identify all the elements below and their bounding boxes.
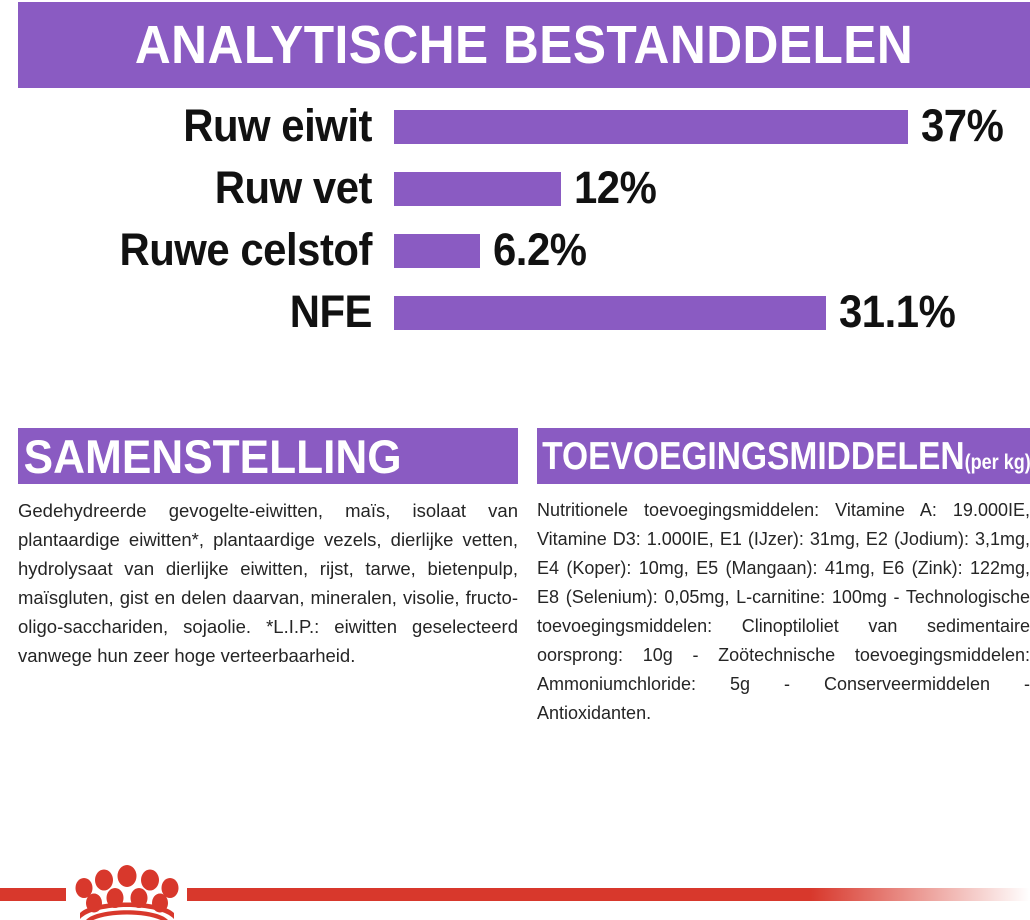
analytical-constituents-chart: Ruw eiwit37%Ruw vet12%Ruwe celstof6.2%NF… <box>0 96 1030 386</box>
composition-header-label: SAMENSTELLING <box>18 433 402 480</box>
additives-header-label: TOEVOEGINGSMIDDELEN(per kg) <box>537 437 1030 476</box>
chart-value-label: 12% <box>574 158 656 218</box>
additives-header-unit: (per kg) <box>965 451 1030 474</box>
chart-row: NFE31.1% <box>0 282 1030 342</box>
chart-value-label: 31.1% <box>839 282 955 342</box>
composition-header: SAMENSTELLING <box>18 428 518 484</box>
footer-rule-left <box>0 888 66 901</box>
chart-category-label: Ruwe celstof <box>26 220 372 280</box>
chart-bar <box>394 110 908 144</box>
chart-category-label: NFE <box>26 282 372 342</box>
additives-body: Nutritionele toevoegingsmiddelen: Vitami… <box>537 496 1030 728</box>
analysis-banner: ANALYTISCHE BESTANDDELEN <box>18 2 1030 88</box>
chart-value-label: 6.2% <box>493 220 587 280</box>
chart-category-label: Ruw vet <box>26 158 372 218</box>
chart-row: Ruw vet12% <box>0 158 1030 218</box>
additives-header-main: TOEVOEGINGSMIDDELEN <box>542 435 964 478</box>
page-title: ANALYTISCHE BESTANDDELEN <box>135 18 913 72</box>
chart-bar <box>394 172 561 206</box>
composition-body: Gedehydreerde gevogelte-eiwitten, maïs, … <box>18 496 518 670</box>
footer-brand <box>0 862 1030 920</box>
composition-panel: SAMENSTELLING Gedehydreerde gevogelte-ei… <box>18 428 518 670</box>
chart-category-label: Ruw eiwit <box>26 96 372 156</box>
footer-rule-right <box>187 888 1030 901</box>
royal-canin-crown-icon <box>66 862 188 920</box>
additives-panel: TOEVOEGINGSMIDDELEN(per kg) Nutritionele… <box>537 428 1030 728</box>
chart-row: Ruwe celstof6.2% <box>0 220 1030 280</box>
chart-bar <box>394 234 480 268</box>
additives-header: TOEVOEGINGSMIDDELEN(per kg) <box>537 428 1030 484</box>
chart-value-label: 37% <box>921 96 1003 156</box>
chart-bar <box>394 296 826 330</box>
chart-row: Ruw eiwit37% <box>0 96 1030 156</box>
